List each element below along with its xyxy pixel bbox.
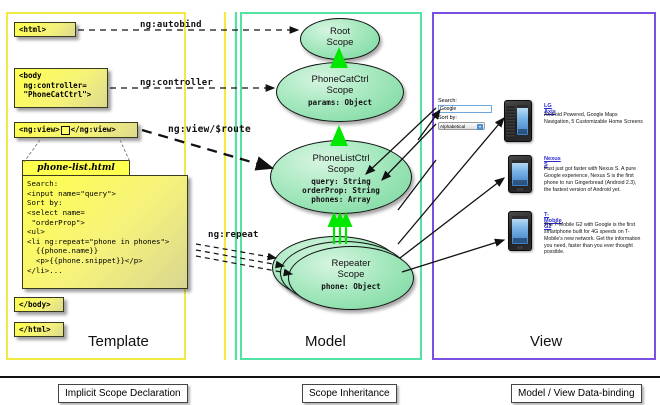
search-label: Search: <box>438 98 457 104</box>
file-code-phone-list: Search: <input name="query"> Sort by: <s… <box>22 175 188 289</box>
scope-root: Root Scope <box>300 18 380 60</box>
legend-scope-inheritance: Scope Inheritance <box>302 384 397 403</box>
legend-implicit-scope-declaration: Implicit Scope Declaration <box>58 384 188 403</box>
scope-repeater-props: phone: Object <box>289 282 413 291</box>
ngview-open-tag: <ng:view> <box>19 125 60 134</box>
phone-home-button <box>517 188 523 191</box>
phone-screen-detail <box>512 160 528 186</box>
code-box-body-close: </body> <box>14 297 64 312</box>
scope-phonecatctrl-props: params: Object <box>277 98 403 107</box>
ngview-close-tag: </ng:view> <box>71 125 116 134</box>
diagram-canvas: <html> <body ng:controller= "PhoneCatCtr… <box>0 0 660 405</box>
phone-snippet: Android Powered, Google Maps Navigation,… <box>544 112 644 126</box>
legend-data-binding: Model / View Data-binding <box>511 384 642 403</box>
scope-phonelistctrl-title2: Scope <box>271 165 411 176</box>
phone-thumbnail-lg-axis <box>504 100 532 142</box>
panel-label-template: Template <box>88 333 149 350</box>
phone-home-button <box>517 246 523 249</box>
code-box-body-open: <body ng:controller= "PhoneCatCtrl"> <box>14 68 108 108</box>
code-box-ngview: <ng:view></ng:view> <box>14 122 138 138</box>
phone-snippet: Fast just got faster with Nexus S. A pur… <box>544 166 644 193</box>
scope-repeater-title2: Scope <box>289 270 413 281</box>
label-ng-autobind: ng:autobind <box>140 20 202 30</box>
label-ng-controller: ng:controller <box>140 78 213 88</box>
sort-select[interactable]: Alphabetical ▾ <box>438 122 485 130</box>
label-ng-repeat: ng:repeat <box>208 230 259 240</box>
file-tab-phone-list: phone-list.html <box>22 160 130 176</box>
browser-view-mock: Search: Google Sort by: Alphabetical ▾ L… <box>436 98 652 288</box>
code-box-html-close: </html> <box>14 322 64 337</box>
search-input[interactable]: Google <box>438 105 492 113</box>
phone-thumbnail-nexus-s <box>508 155 532 193</box>
panel-label-model: Model <box>305 333 346 350</box>
scope-phonelistctrl: PhoneListCtrl Scope query: String orderP… <box>270 140 412 214</box>
phone-screen-detail <box>517 105 528 135</box>
scope-repeater: Repeater Scope phone: Object <box>288 246 414 310</box>
scope-phonecatctrl-title2: Scope <box>277 86 403 97</box>
sort-select-value: Alphabetical <box>440 124 465 129</box>
scope-phonecatctrl: PhoneCatCtrl Scope params: Object <box>276 62 404 122</box>
phone-screen-detail <box>512 216 528 244</box>
scope-phonelistctrl-props: query: String orderProp: String phones: … <box>271 177 411 204</box>
label-ng-view-route: ng:view/$route <box>168 124 251 135</box>
phone-snippet: The T-Mobile G2 with Google is the first… <box>544 222 644 256</box>
panel-label-view: View <box>530 333 562 350</box>
chevron-down-icon: ▾ <box>477 124 483 130</box>
ngview-placeholder-icon <box>61 126 70 135</box>
sort-label: Sort by: <box>438 115 457 121</box>
phone-keyboard-detail <box>506 105 515 137</box>
code-box-html-open: <html> <box>14 22 76 37</box>
scope-root-title2: Scope <box>301 38 379 49</box>
phone-thumbnail-t-mobile-g2 <box>508 211 532 251</box>
